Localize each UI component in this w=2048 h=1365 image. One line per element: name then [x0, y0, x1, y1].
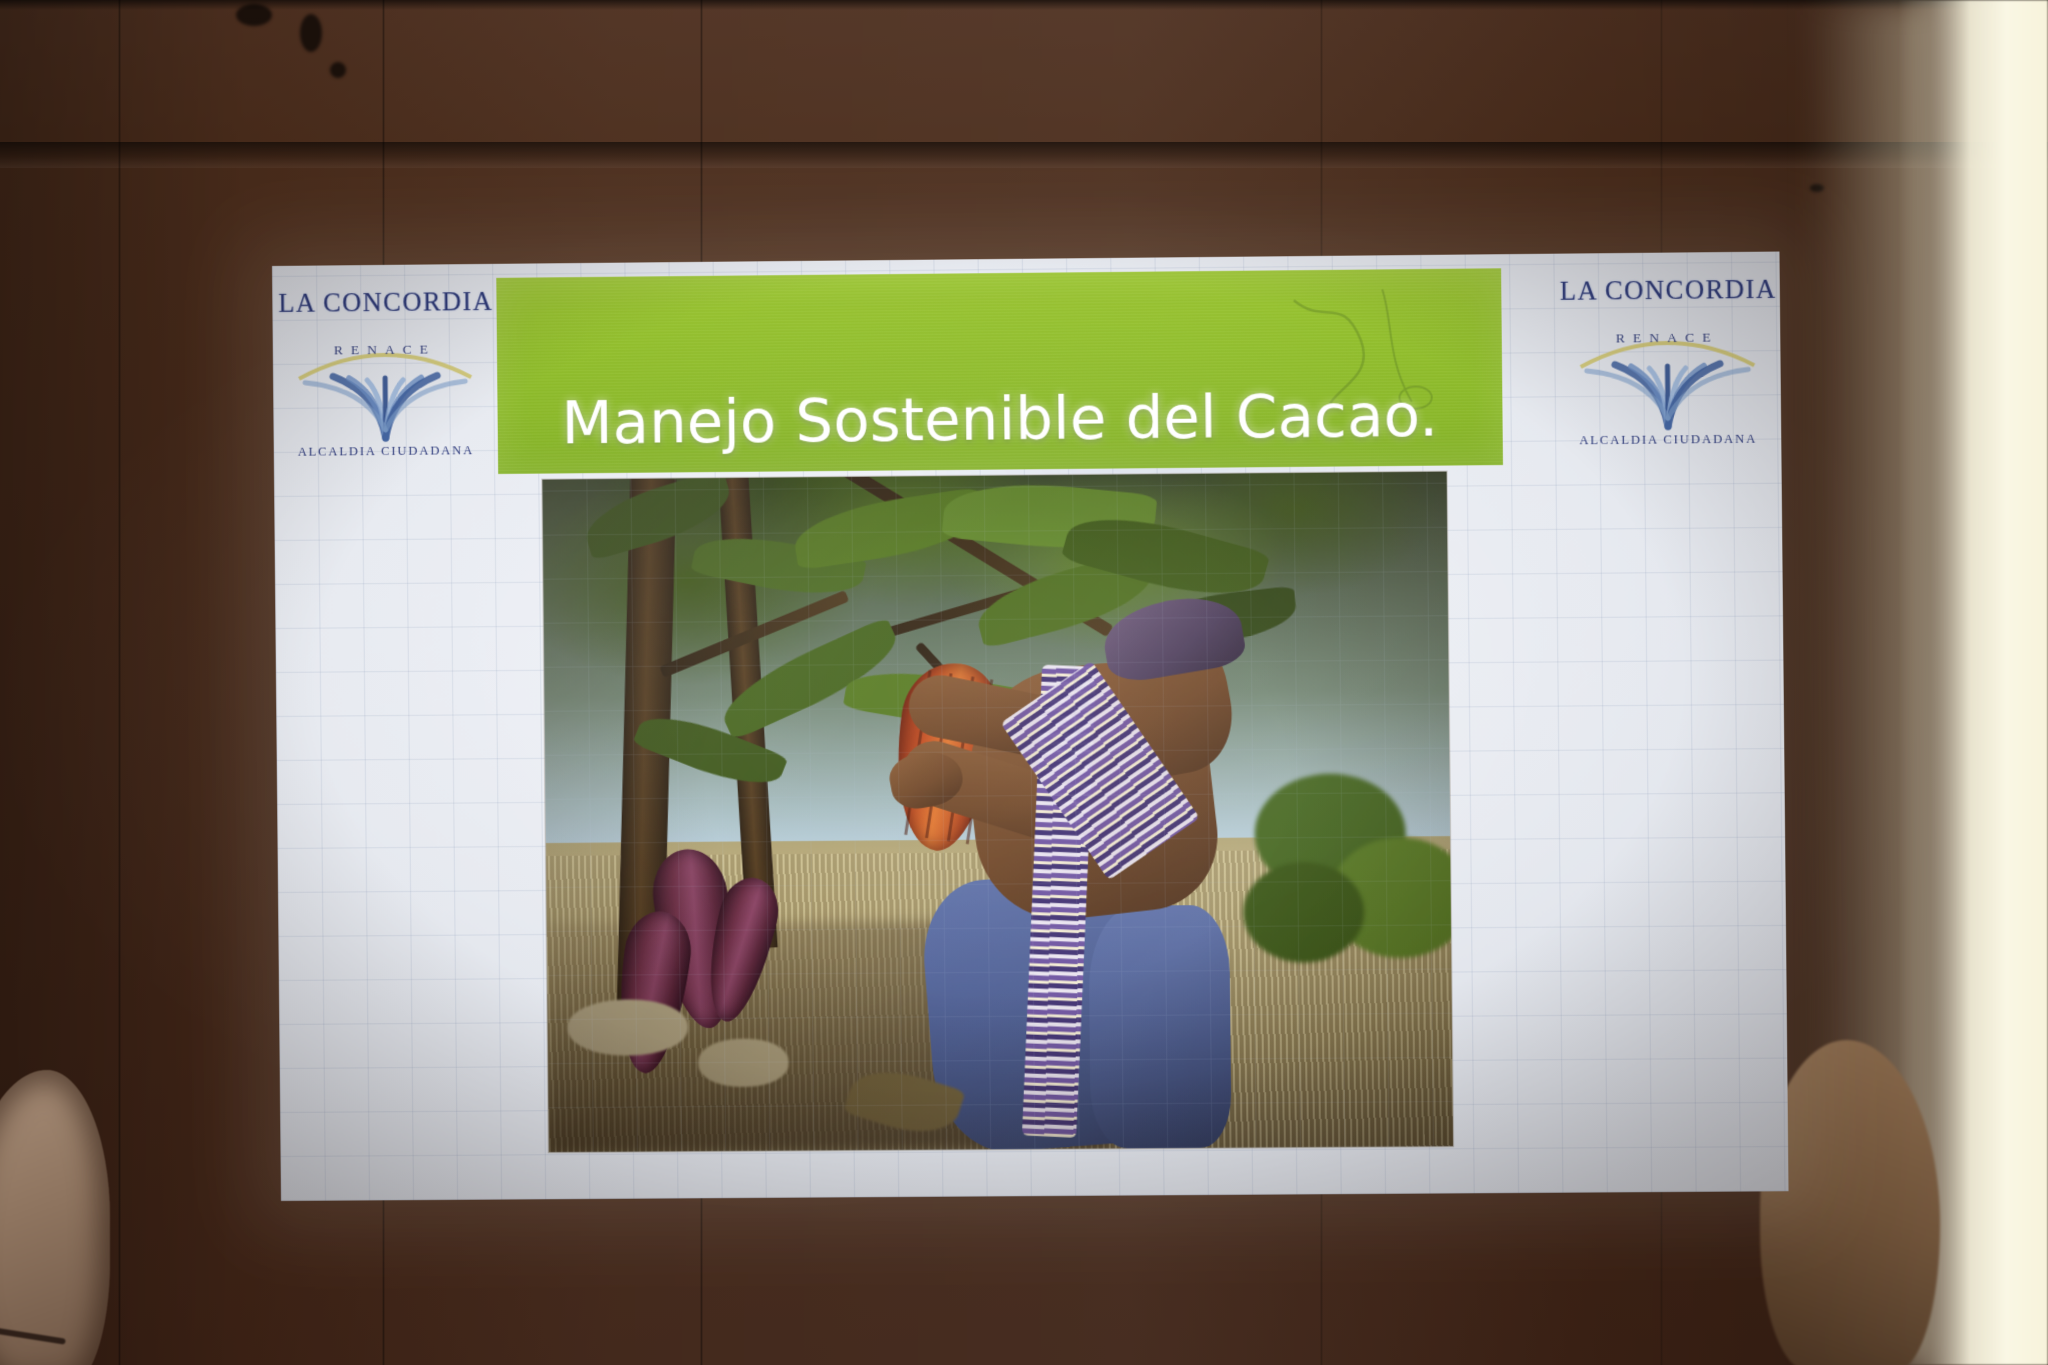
logo-la-concordia-left: LA CONCORDIA RENACE — [278, 286, 492, 478]
logo-arc-text: RENACE — [279, 341, 491, 359]
logo-arc-text: RENACE — [1560, 329, 1774, 347]
wall-plank-seam — [118, 0, 121, 1365]
logo-wordmark: LA CONCORDIA — [278, 286, 490, 319]
wall-stain — [236, 4, 272, 26]
slide-photo — [542, 472, 1453, 1153]
photo-scene: LA CONCORDIA RENACE — [0, 0, 2048, 1365]
photo-projection-sheen — [542, 472, 1453, 1153]
wall-stain — [330, 62, 346, 78]
projected-slide: LA CONCORDIA RENACE — [272, 252, 1789, 1201]
wall-stain — [300, 14, 322, 52]
slide-title: Manejo Sostenible del Cacao. — [497, 380, 1502, 458]
logo-la-concordia-right: LA CONCORDIA RENACE — [1560, 274, 1776, 467]
logo-wordmark: LA CONCORDIA — [1560, 274, 1774, 307]
wall-top-shadow — [0, 0, 2048, 10]
renace-emblem: RENACE — [1560, 313, 1775, 438]
shirt-hem — [0, 1325, 66, 1344]
slide-title-band: Manejo Sostenible del Cacao. — [496, 268, 1503, 474]
renace-emblem: RENACE — [279, 325, 492, 449]
wall-beam — [0, 142, 2048, 168]
